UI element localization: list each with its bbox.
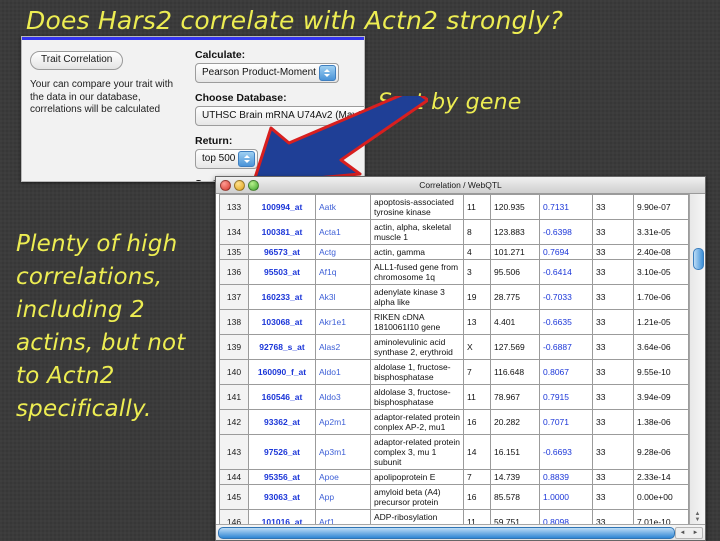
cell-idx: 139 [220, 335, 249, 360]
cell-idx: 136 [220, 260, 249, 285]
table-row[interactable]: 13992768_s_atAlas2aminolevulinic acid sy… [220, 335, 689, 360]
cell-desc: adaptor-related protein complex 3, mu 1 … [371, 435, 464, 470]
cell-p: 3.31e-05 [634, 220, 689, 245]
cell-desc: aldolase 1, fructose-bisphosphatase [371, 360, 464, 385]
table-row[interactable]: 13695503_atAf1qALL1-fused gene from chro… [220, 260, 689, 285]
cell-mb: 28.775 [491, 285, 540, 310]
choose-database-label: Choose Database: [195, 92, 358, 104]
cell-sym[interactable]: Ap2m1 [316, 410, 371, 435]
cell-mb: 85.578 [491, 485, 540, 510]
cell-probe[interactable]: 101016_at [249, 510, 316, 526]
horizontal-scrollbar-thumb[interactable] [218, 527, 675, 539]
cell-chr: 4 [464, 245, 491, 260]
trait-correlation-dialog: Trait Correlation Your can compare your … [21, 36, 365, 182]
window-controls[interactable] [220, 180, 259, 191]
cell-mb: 4.401 [491, 310, 540, 335]
cell-p: 9.90e-07 [634, 195, 689, 220]
cell-idx: 142 [220, 410, 249, 435]
cell-idx: 137 [220, 285, 249, 310]
cell-idx: 140 [220, 360, 249, 385]
cell-mb: 120.935 [491, 195, 540, 220]
vertical-scrollbar-thumb[interactable] [693, 248, 704, 270]
close-icon[interactable] [220, 180, 231, 191]
horizontal-scrollbar[interactable]: ◄► [216, 524, 705, 540]
cell-mb: 14.739 [491, 470, 540, 485]
commentary-text: Plenty of high correlations, including 2… [16, 228, 216, 426]
cell-n: 33 [593, 360, 634, 385]
cell-idx: 143 [220, 435, 249, 470]
cell-mb: 59.751 [491, 510, 540, 526]
cell-n: 33 [593, 245, 634, 260]
calculate-label: Calculate: [195, 49, 358, 61]
cell-idx: 138 [220, 310, 249, 335]
cell-corr: 0.8839 [540, 470, 593, 485]
cell-sym[interactable]: Akr1e1 [316, 310, 371, 335]
cell-desc: actin, gamma [371, 245, 464, 260]
cell-n: 33 [593, 410, 634, 435]
cell-corr: -0.6693 [540, 435, 593, 470]
cell-n: 33 [593, 435, 634, 470]
cell-n: 33 [593, 510, 634, 526]
correlation-table: 133100994_atAatkapoptosis-associated tyr… [219, 194, 689, 525]
cell-n: 33 [593, 260, 634, 285]
cell-chr: 13 [464, 310, 491, 335]
cell-chr: 11 [464, 510, 491, 526]
cell-probe[interactable]: 93063_at [249, 485, 316, 510]
cell-corr: 0.7071 [540, 410, 593, 435]
cell-corr: 0.7131 [540, 195, 593, 220]
cell-desc: apoptosis-associated tyrosine kinase [371, 195, 464, 220]
cell-probe[interactable]: 95503_at [249, 260, 316, 285]
table-row[interactable]: 138103068_atAkr1e1RIKEN cDNA 1810061I10 … [220, 310, 689, 335]
table-row[interactable]: 13596573_atActgactin, gamma4101.2710.769… [220, 245, 689, 260]
cell-mb: 78.967 [491, 385, 540, 410]
cell-chr: 8 [464, 220, 491, 245]
correlation-table-scroll-area[interactable]: 133100994_atAatkapoptosis-associated tyr… [219, 194, 689, 525]
cell-idx: 141 [220, 385, 249, 410]
cell-mb: 16.151 [491, 435, 540, 470]
cell-corr: 1.0000 [540, 485, 593, 510]
cell-chr: 19 [464, 285, 491, 310]
chevron-updown-icon [238, 151, 255, 167]
table-row[interactable]: 141160546_atAldo3aldolase 3, fructose-bi… [220, 385, 689, 410]
chevron-updown-icon [319, 65, 336, 81]
cell-mb: 95.506 [491, 260, 540, 285]
cell-desc: RIKEN cDNA 1810061I10 gene [371, 310, 464, 335]
dialog-description: Your can compare your trait with the dat… [30, 79, 185, 117]
return-label: Return: [195, 135, 358, 147]
cell-chr: 16 [464, 485, 491, 510]
cell-corr: 0.7915 [540, 385, 593, 410]
cell-chr: 7 [464, 470, 491, 485]
cell-n: 33 [593, 335, 634, 360]
cell-n: 33 [593, 195, 634, 220]
return-select[interactable]: top 500 [195, 149, 258, 169]
table-row[interactable]: 14293362_atAp2m1adaptor-related protein … [220, 410, 689, 435]
cell-probe[interactable]: 100994_at [249, 195, 316, 220]
cell-corr: 0.8067 [540, 360, 593, 385]
dialog-accent-bar [22, 37, 364, 40]
calculate-value: Pearson Product-Moment [202, 67, 316, 78]
table-row[interactable]: 140160090_f_atAldo1aldolase 1, fructose-… [220, 360, 689, 385]
cell-probe[interactable]: 103068_at [249, 310, 316, 335]
correlation-table-body: 133100994_atAatkapoptosis-associated tyr… [220, 195, 689, 526]
cell-idx: 134 [220, 220, 249, 245]
cell-probe[interactable]: 100381_at [249, 220, 316, 245]
cell-probe[interactable]: 96573_at [249, 245, 316, 260]
cell-probe[interactable]: 92768_s_at [249, 335, 316, 360]
cell-probe[interactable]: 160233_at [249, 285, 316, 310]
cell-desc: actin, alpha, skeletal muscle 1 [371, 220, 464, 245]
cell-sym[interactable]: Aldo3 [316, 385, 371, 410]
cell-desc: adaptor-related protein conplex AP-2, mu… [371, 410, 464, 435]
cell-p: 2.33e-14 [634, 470, 689, 485]
zoom-icon[interactable] [248, 180, 259, 191]
cell-n: 33 [593, 310, 634, 335]
cell-n: 33 [593, 220, 634, 245]
cell-sym[interactable]: Alas2 [316, 335, 371, 360]
cell-p: 3.10e-05 [634, 260, 689, 285]
cell-corr: -0.6635 [540, 310, 593, 335]
dialog-left-column: Trait Correlation Your can compare your … [30, 49, 185, 117]
cell-p: 1.21e-05 [634, 310, 689, 335]
table-row[interactable]: 14495356_atApoeapolipoprotein E714.7390.… [220, 470, 689, 485]
cell-probe[interactable]: 95356_at [249, 470, 316, 485]
cell-p: 0.00e+00 [634, 485, 689, 510]
sort-by-gene-annotation: Sort by gene [378, 90, 521, 116]
cell-sym[interactable]: Actg [316, 245, 371, 260]
cell-n: 33 [593, 385, 634, 410]
cell-mb: 101.271 [491, 245, 540, 260]
cell-n: 33 [593, 285, 634, 310]
cell-sym[interactable]: Aatk [316, 195, 371, 220]
cell-n: 33 [593, 470, 634, 485]
table-row[interactable]: 14593063_atAppamyloid beta (A4) precurso… [220, 485, 689, 510]
cell-chr: 11 [464, 385, 491, 410]
cell-chr: 14 [464, 435, 491, 470]
cell-sym[interactable]: Aldo1 [316, 360, 371, 385]
cell-p: 9.28e-06 [634, 435, 689, 470]
cell-desc: amyloid beta (A4) precursor protein [371, 485, 464, 510]
table-row[interactable]: 14397526_atAp3m1adaptor-related protein … [220, 435, 689, 470]
cell-idx: 146 [220, 510, 249, 526]
cell-desc: ALL1-fused gene from chromosome 1q [371, 260, 464, 285]
page-title: Does Hars2 correlate with Actn2 strongly… [26, 6, 563, 36]
slide-canvas: Does Hars2 correlate with Actn2 strongly… [0, 0, 720, 540]
window-title: Correlation / WebQTL [216, 177, 705, 193]
cell-sym[interactable]: Ap3m1 [316, 435, 371, 470]
cell-chr: 16 [464, 410, 491, 435]
cell-p: 3.94e-09 [634, 385, 689, 410]
table-row[interactable]: 137160233_atAk3ladenylate kinase 3 alpha… [220, 285, 689, 310]
cell-chr: 11 [464, 195, 491, 220]
cell-idx: 144 [220, 470, 249, 485]
choose-database-select[interactable]: UTHSC Brain mRNA U74Av2 (May03) [195, 106, 365, 126]
cell-corr: -0.6398 [540, 220, 593, 245]
cell-probe[interactable]: 97526_at [249, 435, 316, 470]
window-titlebar[interactable]: Correlation / WebQTL [216, 177, 705, 194]
cell-corr: 0.7694 [540, 245, 593, 260]
cell-desc: adenylate kinase 3 alpha like [371, 285, 464, 310]
horizontal-scroll-arrows-icon[interactable]: ◄► [675, 527, 703, 539]
cell-corr: -0.6414 [540, 260, 593, 285]
cell-sym[interactable]: Ak3l [316, 285, 371, 310]
cell-idx: 135 [220, 245, 249, 260]
cell-idx: 133 [220, 195, 249, 220]
scroll-arrows-icon[interactable]: ▲▼ [693, 511, 702, 523]
cell-sym[interactable]: Acta1 [316, 220, 371, 245]
minimize-icon[interactable] [234, 180, 245, 191]
cell-mb: 116.648 [491, 360, 540, 385]
cell-sym[interactable]: Apoe [316, 470, 371, 485]
calculate-select[interactable]: Pearson Product-Moment [195, 63, 339, 83]
cell-sym[interactable]: Af1q [316, 260, 371, 285]
table-row[interactable]: 133100994_atAatkapoptosis-associated tyr… [220, 195, 689, 220]
cell-desc: aminolevulinic acid synthase 2, erythroi… [371, 335, 464, 360]
cell-corr: -0.6887 [540, 335, 593, 360]
cell-idx: 145 [220, 485, 249, 510]
table-row[interactable]: 134100381_atActa1actin, alpha, skeletal … [220, 220, 689, 245]
cell-p: 3.64e-06 [634, 335, 689, 360]
cell-mb: 127.569 [491, 335, 540, 360]
return-value: top 500 [202, 153, 235, 164]
cell-p: 7.01e-10 [634, 510, 689, 526]
dialog-right-column: Calculate: Pearson Product-Moment Choose… [195, 49, 358, 182]
window-body: 133100994_atAatkapoptosis-associated tyr… [216, 194, 705, 540]
trait-correlation-button[interactable]: Trait Correlation [30, 51, 123, 70]
cell-p: 9.55e-10 [634, 360, 689, 385]
cell-p: 1.38e-06 [634, 410, 689, 435]
cell-p: 2.40e-08 [634, 245, 689, 260]
choose-database-value: UTHSC Brain mRNA U74Av2 (May03) [202, 110, 365, 121]
cell-chr: 3 [464, 260, 491, 285]
vertical-scrollbar[interactable]: ▲▼ [689, 194, 705, 525]
cell-probe[interactable]: 160546_at [249, 385, 316, 410]
cell-mb: 123.883 [491, 220, 540, 245]
cell-p: 1.70e-06 [634, 285, 689, 310]
cell-n: 33 [593, 485, 634, 510]
cell-chr: X [464, 335, 491, 360]
table-row[interactable]: 146101016_atArf1ADP-ribosylation factor1… [220, 510, 689, 526]
cell-chr: 7 [464, 360, 491, 385]
cell-probe[interactable]: 93362_at [249, 410, 316, 435]
cell-corr: 0.8098 [540, 510, 593, 526]
cell-corr: -0.7033 [540, 285, 593, 310]
cell-sym[interactable]: App [316, 485, 371, 510]
cell-desc: apolipoprotein E [371, 470, 464, 485]
cell-mb: 20.282 [491, 410, 540, 435]
cell-probe[interactable]: 160090_f_at [249, 360, 316, 385]
cell-sym[interactable]: Arf1 [316, 510, 371, 526]
cell-desc: ADP-ribosylation factor [371, 510, 464, 526]
correlation-results-window: Correlation / WebQTL 133100994_atAatkapo… [215, 176, 706, 541]
cell-desc: aldolase 3, fructose-bisphosphatase [371, 385, 464, 410]
